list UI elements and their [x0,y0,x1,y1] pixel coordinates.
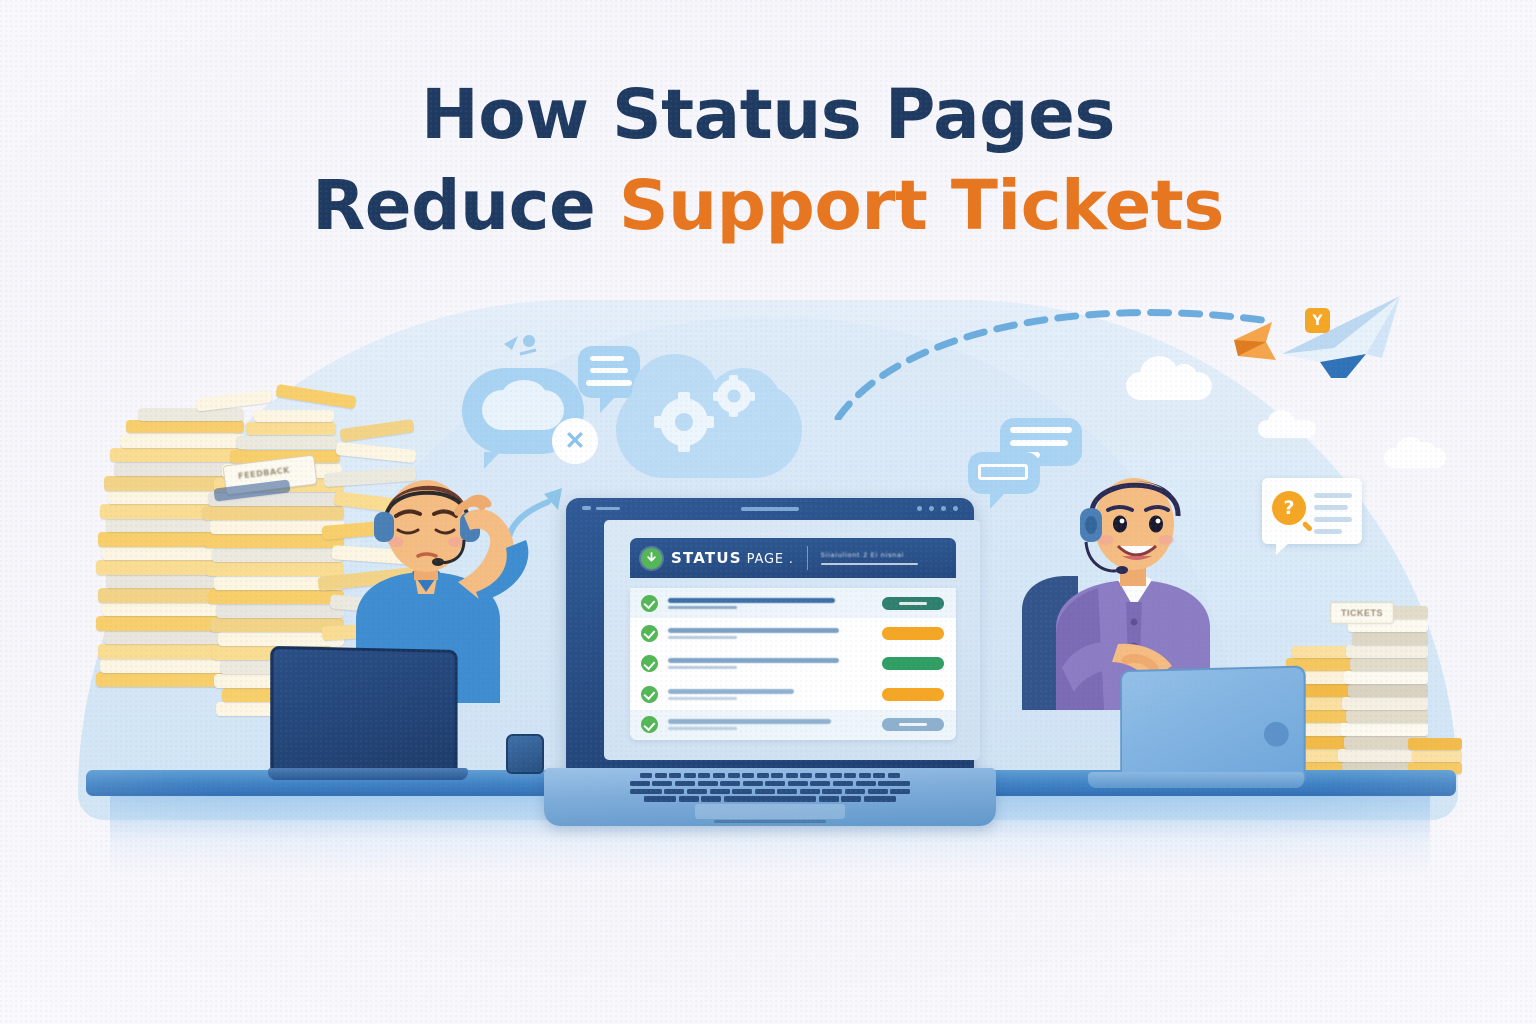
status-row[interactable] [630,618,956,648]
ticket-stack-label: TICKETS [1330,602,1394,624]
status-page-brand: STATUS PAGE . [671,549,794,567]
status-page-subtitle: Siiaiuliont 2 Ei nisnai [821,551,945,565]
trackpad[interactable] [695,804,845,819]
status-row[interactable] [630,588,956,618]
dashed-arc-trail [830,290,1280,420]
status-row-label [668,719,872,730]
mouse-device [506,734,544,774]
check-circle-icon [641,625,658,642]
title-prefix: Reduce [312,166,619,246]
check-circle-icon [641,655,658,672]
lid-indicator [582,506,620,510]
alert-laptop-base [268,768,468,780]
lid-dots [917,506,958,511]
status-row-label [668,598,872,609]
laptop-base [544,768,996,826]
status-row[interactable] [630,710,956,740]
alert-laptop [272,648,462,776]
status-page-header: STATUS PAGE . Siiaiuliont 2 Ei nisnai [630,538,956,578]
status-row[interactable] [630,679,956,709]
gears-cloud-icon [616,382,802,478]
download-circle-icon [641,548,662,569]
status-row-label [668,658,872,669]
check-circle-icon [641,595,658,612]
status-page-laptop: STATUS PAGE . Siiaiuliont 2 Ei nisnai [544,498,996,828]
status-badge [882,688,944,701]
subtitle-rule [821,563,918,565]
keyboard[interactable] [590,773,950,801]
status-badge [882,718,944,731]
plane-badge-icon: Y [1305,308,1330,333]
header-divider [807,546,808,570]
title-line-2: Reduce Support Tickets [0,161,1536,252]
brand-thin: PAGE . [742,552,794,567]
plane-tail-icon [1232,318,1290,364]
title-line-1: How Status Pages [0,70,1536,161]
brand-bold: STATUS [671,549,742,567]
cloud-icon [1384,448,1446,468]
base-lip [714,820,826,823]
title-accent: Support Tickets [619,166,1224,246]
check-circle-icon [641,716,658,733]
sparkle-icon [498,330,542,364]
x-mark-icon: ✕ [552,418,598,464]
status-row-label [668,689,872,700]
status-row[interactable] [630,649,956,679]
status-row-label [668,628,872,639]
status-row-list [630,588,956,740]
status-page-screen: STATUS PAGE . Siiaiuliont 2 Ei nisnai [604,520,980,760]
subtitle-text: Siiaiuliont 2 Ei nisnai [821,551,945,559]
paper-plane-icon [1278,292,1410,378]
check-circle-icon [641,686,658,703]
status-badge [882,657,944,670]
status-badge [882,597,944,610]
agent-laptop [1088,668,1304,786]
webcam-bar [741,507,799,511]
cloud-icon [1258,420,1316,438]
page-title: How Status Pages Reduce Support Tickets [0,70,1536,252]
status-badge [882,627,944,640]
